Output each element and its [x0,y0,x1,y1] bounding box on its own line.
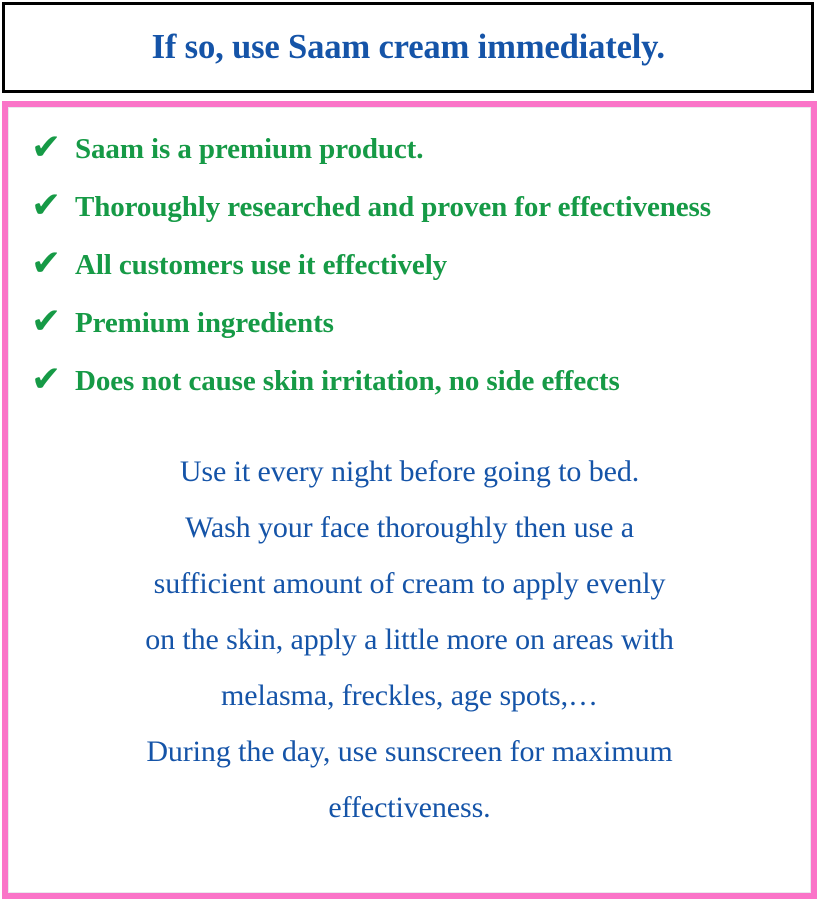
check-icon: ✔ [25,353,75,406]
instruction-line: melasma, freckles, age spots,… [27,668,792,724]
instruction-line: sufficient amount of cream to apply even… [27,556,792,612]
benefit-list: ✔ Saam is a premium product. ✔ Thoroughl… [17,122,802,408]
header-banner: If so, use Saam cream immediately. [2,2,814,93]
benefit-label: Saam is a premium product. [75,122,798,176]
benefit-label: All customers use it effectively [75,238,798,292]
list-item: ✔ Saam is a premium product. [25,122,798,176]
benefit-label: Does not cause skin irritation, no side … [75,354,798,408]
instruction-line: During the day, use sunscreen for maximu… [27,724,792,780]
promo-poster: If so, use Saam cream immediately. ✔ Saa… [0,0,820,904]
list-item: ✔ All customers use it effectively [25,238,798,292]
list-item: ✔ Thoroughly researched and proven for e… [25,180,798,234]
benefit-label: Thoroughly researched and proven for eff… [75,180,798,234]
list-item: ✔ Does not cause skin irritation, no sid… [25,354,798,408]
content-card-inner: ✔ Saam is a premium product. ✔ Thoroughl… [8,107,811,893]
benefit-label: Premium ingredients [75,296,798,350]
content-card: ✔ Saam is a premium product. ✔ Thoroughl… [2,101,817,899]
usage-instructions: Use it every night before going to bed. … [27,444,792,836]
check-icon: ✔ [25,295,75,348]
page-title: If so, use Saam cream immediately. [151,28,664,67]
instruction-line: Wash your face thoroughly then use a [27,500,792,556]
instruction-line: Use it every night before going to bed. [27,444,792,500]
check-icon: ✔ [25,179,75,232]
instruction-line: effectiveness. [27,780,792,836]
list-item: ✔ Premium ingredients [25,296,798,350]
instruction-line: on the skin, apply a little more on area… [27,612,792,668]
check-icon: ✔ [25,237,75,290]
check-icon: ✔ [25,121,75,174]
